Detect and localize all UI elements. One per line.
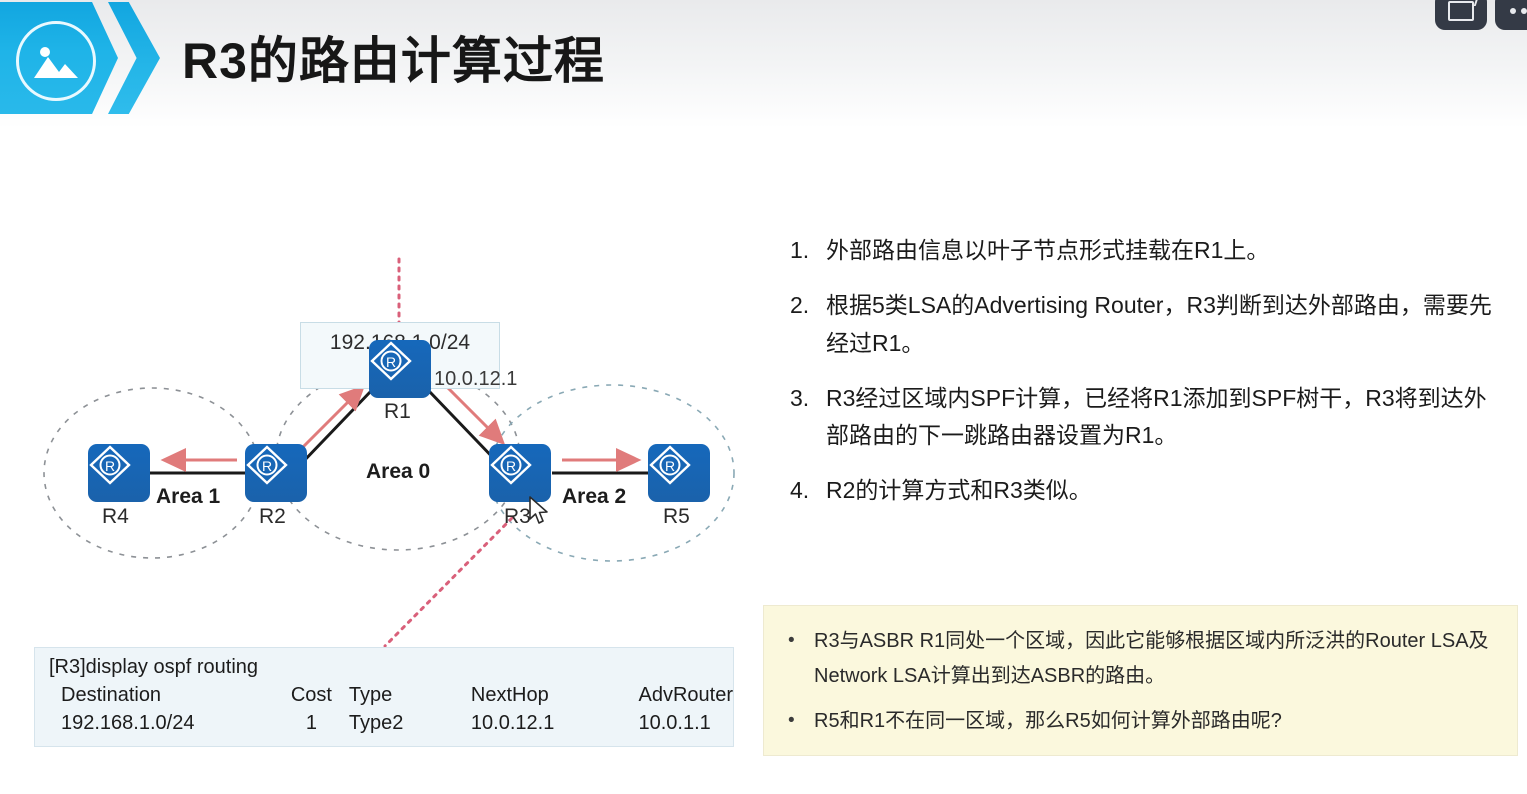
column-header-type: Type	[349, 681, 471, 709]
table-header-row: Destination Cost Type NextHop AdvRouter	[43, 681, 733, 709]
player-controls	[1435, 0, 1527, 30]
ospf-routing-table-panel: [R3]display ospf routing Destination Cos…	[34, 647, 734, 747]
router-label-r4: R4	[102, 505, 129, 529]
slide-canvas: R3的路由计算过程	[0, 0, 1527, 794]
router-label-r2: R2	[259, 505, 286, 529]
area-label-area1: Area 1	[156, 485, 220, 509]
list-item: 2. 根据5类LSA的Advertising Router，R3判断到达外部路由…	[790, 287, 1500, 362]
cell-destination: 192.168.1.0/24	[43, 709, 274, 737]
cell-nexthop: 10.0.12.1	[471, 709, 639, 737]
list-item: 4. R2的计算方式和R3类似。	[790, 472, 1500, 509]
list-item-text: R3经过区域内SPF计算，已经将R1添加到SPF树干，R3将到达外部路由的下一跳…	[826, 380, 1500, 455]
list-item-number: 4.	[790, 472, 826, 509]
svg-text:R: R	[262, 458, 272, 474]
list-item: 1. 外部路由信息以叶子节点形式挂载在R1上。	[790, 232, 1500, 269]
bullet-icon: •	[782, 624, 814, 657]
picture-in-picture-button[interactable]	[1435, 0, 1487, 30]
cell-cost: 1	[274, 709, 349, 737]
callout-text: R3与ASBR R1同处一个区域，因此它能够根据区域内所泛洪的Router LS…	[814, 624, 1495, 694]
summary-callout: • R3与ASBR R1同处一个区域，因此它能够根据区域内所泛洪的Router …	[763, 605, 1518, 756]
network-topology-diagram: 192.168.1.0/24 Cost 1 R R R	[0, 128, 760, 794]
page-title: R3的路由计算过程	[182, 21, 605, 93]
dotted-link-r3-to-table	[385, 518, 512, 646]
explanation-list: 1. 外部路由信息以叶子节点形式挂载在R1上。 2. 根据5类LSA的Adver…	[790, 232, 1500, 528]
more-dots-icon	[1510, 8, 1527, 14]
svg-text:R: R	[506, 458, 516, 474]
routing-table: Destination Cost Type NextHop AdvRouter …	[43, 681, 733, 737]
bullet-icon: •	[782, 704, 814, 737]
callout-list-item: • R5和R1不在同一区域，那么R5如何计算外部路由呢?	[782, 704, 1495, 739]
callout-list-item: • R3与ASBR R1同处一个区域，因此它能够根据区域内所泛洪的Router …	[782, 624, 1495, 694]
column-header-cost: Cost	[274, 681, 349, 709]
router-node-r3[interactable]: R	[489, 444, 551, 502]
callout-text: R5和R1不在同一区域，那么R5如何计算外部路由呢?	[814, 704, 1282, 739]
router-label-r5: R5	[663, 505, 690, 529]
svg-text:R: R	[386, 354, 396, 370]
svg-text:R: R	[105, 458, 115, 474]
router-label-r1: R1	[384, 400, 411, 424]
area-label-area2: Area 2	[562, 485, 626, 509]
image-icon	[16, 21, 96, 101]
list-item: 3. R3经过区域内SPF计算，已经将R1添加到SPF树干，R3将到达外部路由的…	[790, 380, 1500, 455]
list-item-number: 1.	[790, 232, 826, 269]
list-item-number: 3.	[790, 380, 826, 417]
arrow-r1-to-r2	[300, 388, 362, 450]
cell-type: Type2	[349, 709, 471, 737]
list-item-text: 外部路由信息以叶子节点形式挂载在R1上。	[826, 232, 1269, 269]
router-node-r4[interactable]: R	[88, 444, 150, 502]
cell-advrouter: 10.0.1.1	[639, 709, 734, 737]
router-node-r1[interactable]: R	[369, 340, 431, 398]
list-item-number: 2.	[790, 287, 826, 324]
more-options-button[interactable]	[1495, 0, 1527, 30]
column-header-nexthop: NextHop	[471, 681, 639, 709]
list-item-text: 根据5类LSA的Advertising Router，R3判断到达外部路由，需要…	[826, 287, 1500, 362]
list-item-text: R2的计算方式和R3类似。	[826, 472, 1092, 509]
cli-command: [R3]display ospf routing	[43, 654, 733, 681]
table-row: 192.168.1.0/24 1 Type2 10.0.12.1 10.0.1.…	[43, 709, 733, 737]
router-label-r3: R3	[504, 505, 531, 529]
area-label-area0: Area 0	[366, 460, 430, 484]
interface-label-10-0-12-1: 10.0.12.1	[434, 368, 517, 391]
link-r2-r1	[300, 390, 372, 465]
router-node-r5[interactable]: R	[648, 444, 710, 502]
picture-in-picture-icon	[1448, 1, 1474, 21]
column-header-advrouter: AdvRouter	[639, 681, 734, 709]
svg-text:R: R	[665, 458, 675, 474]
router-node-r2[interactable]: R	[245, 444, 307, 502]
column-header-destination: Destination	[43, 681, 274, 709]
